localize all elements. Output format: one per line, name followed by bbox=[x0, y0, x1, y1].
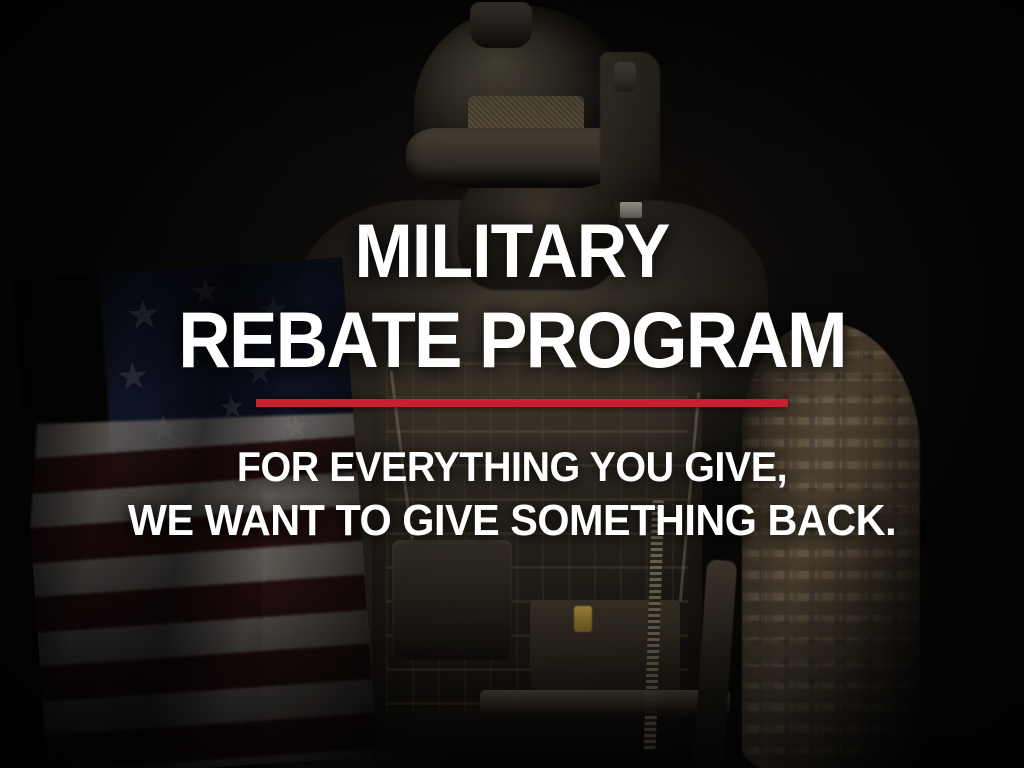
american-flag: ★ ★ ★ ★ ★ ★ ★ ★ ★ bbox=[13, 257, 377, 768]
camo-pattern-overlay bbox=[742, 322, 920, 768]
soldier-right-arm bbox=[742, 322, 920, 768]
soldier-face-covering bbox=[458, 170, 618, 290]
military-rebate-banner: ★ ★ ★ ★ ★ ★ ★ ★ ★ MILITARY REBATE PROGRA… bbox=[0, 0, 1024, 768]
helmet-id-tag bbox=[620, 202, 642, 218]
utility-belt bbox=[480, 690, 730, 716]
helmet-velcro-patch bbox=[468, 96, 584, 132]
background-photo: ★ ★ ★ ★ ★ ★ ★ ★ ★ bbox=[0, 0, 1024, 768]
flag-fold-shading bbox=[13, 257, 377, 768]
helmet-accessory-knob bbox=[614, 62, 636, 92]
nvg-mount-icon bbox=[470, 2, 532, 48]
vest-pouch-left bbox=[392, 540, 512, 660]
brass-accent-detail bbox=[574, 606, 592, 632]
